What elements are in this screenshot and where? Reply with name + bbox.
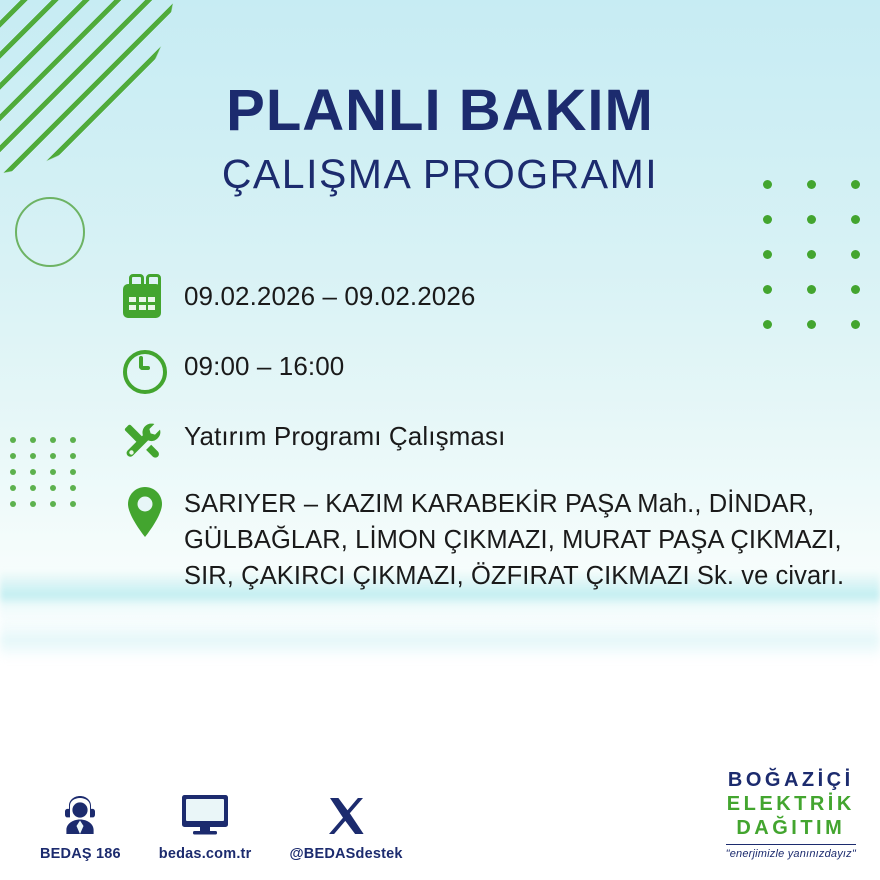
location-line-1: SARIYER – KAZIM KARABEKİR PAŞA Mah., DİN…	[184, 486, 844, 522]
detail-row-time: 09:00 – 16:00	[118, 342, 860, 394]
detail-row-work-type: Yatırım Programı Çalışması	[118, 412, 860, 464]
detail-row-location: SARIYER – KAZIM KARABEKİR PAŞA Mah., DİN…	[118, 482, 860, 595]
poster-title: PLANLI BAKIM ÇALIŞMA PROGRAMI	[0, 82, 880, 195]
tools-icon	[118, 412, 170, 464]
brand-line-1: BOĞAZİÇİ	[726, 770, 856, 790]
title-line-1: PLANLI BAKIM	[0, 82, 880, 140]
poster-footer: BEDAŞ 186 bedas.com.tr	[0, 750, 880, 880]
brand-tagline: "enerjimizle yanınızdayız"	[726, 849, 856, 860]
contact-social-label: @BEDASdestek	[289, 846, 402, 862]
location-value: SARIYER – KAZIM KARABEKİR PAŞA Mah., DİN…	[184, 482, 844, 595]
dot-grid-left-decoration	[10, 437, 90, 517]
work-type-value: Yatırım Programı Çalışması	[184, 412, 505, 454]
monitor-icon	[159, 789, 252, 837]
clock-icon	[118, 342, 170, 394]
contact-social[interactable]: @BEDASdestek	[289, 789, 402, 862]
contact-website-label: bedas.com.tr	[159, 846, 252, 862]
contact-website[interactable]: bedas.com.tr	[159, 789, 252, 862]
detail-row-date: 09.02.2026 – 09.02.2026	[118, 272, 860, 324]
contact-phone[interactable]: BEDAŞ 186	[40, 789, 121, 862]
location-line-3: SIR, ÇAKIRCI ÇIKMAZI, ÖZFIRAT ÇIKMAZI Sk…	[184, 558, 844, 594]
brand-line-3: DAĞITIM	[726, 818, 856, 838]
bedas-logo: BOĞAZİÇİ ELEKTRİK DAĞITIM "enerjimizle y…	[726, 770, 856, 861]
circle-outline-decoration	[15, 197, 85, 267]
title-line-2: ÇALIŞMA PROGRAMI	[0, 154, 880, 195]
contact-phone-label: BEDAŞ 186	[40, 846, 121, 862]
date-value: 09.02.2026 – 09.02.2026	[184, 272, 475, 314]
brand-line-2: ELEKTRİK	[726, 794, 856, 814]
location-line-2: GÜLBAĞLAR, LİMON ÇIKMAZI, MURAT PAŞA ÇIK…	[184, 522, 844, 558]
support-agent-icon	[40, 789, 121, 837]
background-wave-band-secondary	[0, 620, 880, 660]
x-twitter-icon	[289, 789, 402, 837]
calendar-icon	[118, 272, 170, 324]
contact-list: BEDAŞ 186 bedas.com.tr	[40, 789, 403, 862]
details-list: 09.02.2026 – 09.02.2026 09:00 – 16:00	[118, 272, 860, 613]
location-pin-icon	[118, 482, 170, 534]
brand-divider	[726, 844, 856, 846]
time-value: 09:00 – 16:00	[184, 342, 344, 384]
planned-maintenance-poster: PLANLI BAKIM ÇALIŞMA PROGRAMI 09.02.2026…	[0, 0, 880, 880]
